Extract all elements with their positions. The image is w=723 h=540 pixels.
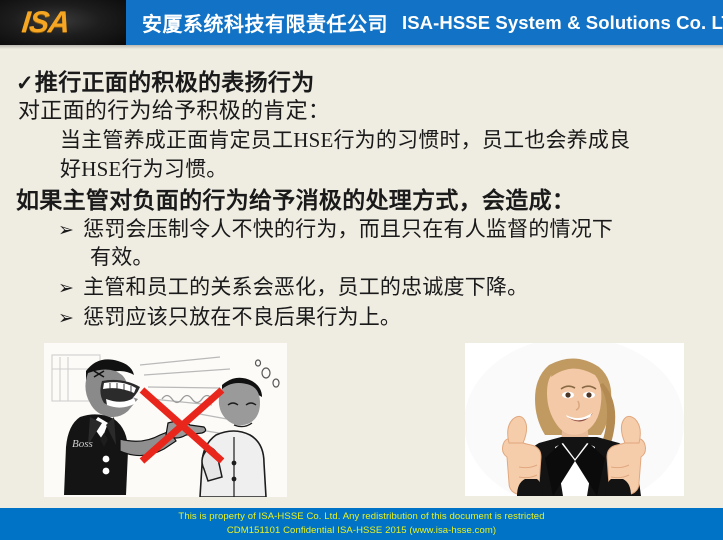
body-line-2: 好HSE行为习惯。 [60, 153, 227, 183]
list-item-continuation: 有效。 [90, 241, 154, 271]
header-title: 安厦系统科技有限责任公司 ISA-HSSE System & Solutions… [142, 0, 723, 45]
list-item: ➢ 惩罚会压制令人不快的行为，而且只在有人监督的情况下 [58, 213, 613, 243]
image-thumbs-up-woman [465, 343, 684, 496]
footer-copyright-line: This is property of ISA-HSSE Co. Ltd. An… [178, 510, 544, 524]
header-shadow [0, 45, 723, 49]
list-item-text: 惩罚应该只放在不良后果行为上。 [83, 301, 401, 331]
check-icon: ✓ [16, 71, 34, 95]
list-item: ➢ 主管和员工的关系会恶化，员工的忠诚度下降。 [58, 271, 528, 301]
body-line-1: 当主管养成正面肯定员工HSE行为的习惯时，员工也会养成良 [60, 124, 630, 154]
heading-positive-behavior: ✓推行正面的积极的表扬行为 [16, 63, 315, 97]
svg-text:Boss: Boss [72, 438, 93, 450]
heading1-text: 推行正面的积极的表扬行为 [35, 70, 315, 95]
subtitle-affirm: 对正面的行为给予积极的肯定： [18, 93, 330, 125]
isa-logo-icon: ISA [20, 6, 71, 40]
slide-footer: This is property of ISA-HSSE Co. Ltd. An… [0, 508, 723, 540]
heading-negative-consequence: 如果主管对负面的行为给予消极的处理方式，会造成： [16, 181, 575, 215]
footer-reference-line: CDM151101 Confidential ISA-HSSE 2015 (ww… [227, 524, 496, 538]
logo-panel: ISA [0, 0, 126, 45]
slide-header: ISA 安厦系统科技有限责任公司 ISA-HSSE System & Solut… [0, 0, 723, 45]
slide-canvas: ISA 安厦系统科技有限责任公司 ISA-HSSE System & Solut… [0, 0, 723, 540]
angry-boss-illustration: Boss [44, 343, 287, 497]
arrow-bullet-icon: ➢ [58, 219, 74, 242]
businesswoman-thumbs-up-photo [465, 343, 684, 496]
list-item-text: 主管和员工的关系会恶化，员工的忠诚度下降。 [83, 271, 528, 301]
list-item: ➢ 惩罚应该只放在不良后果行为上。 [58, 301, 401, 331]
company-name-cn: 安厦系统科技有限责任公司 [142, 8, 388, 37]
arrow-bullet-icon: ➢ [58, 277, 74, 300]
list-item-text: 惩罚会压制令人不快的行为，而且只在有人监督的情况下 [83, 213, 613, 243]
arrow-bullet-icon: ➢ [58, 307, 74, 330]
image-angry-boss-cartoon: Boss [44, 343, 287, 497]
company-name-en: ISA-HSSE System & Solutions Co. LTD [402, 12, 723, 34]
